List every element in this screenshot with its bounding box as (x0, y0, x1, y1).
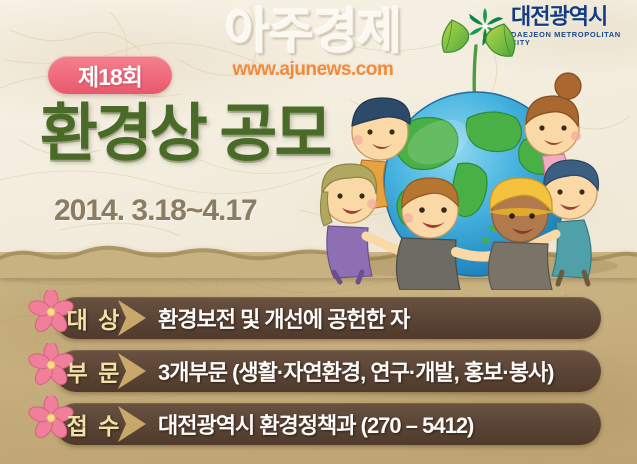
info-row-label: 부 문 (61, 350, 127, 392)
date-range: 2014. 3.18~4.17 (54, 194, 257, 228)
edition-badge-label: 제18회 (78, 58, 142, 92)
info-row-label: 대 상 (61, 297, 127, 339)
info-row-value: 환경보전 및 개선에 공헌한 자 (158, 297, 597, 339)
info-row-label: 접 수 (61, 403, 127, 445)
info-row-value: 3개부문 (생활·자연환경, 연구·개발, 홍보·봉사) (158, 350, 597, 392)
poster-root: 아주경제 www.ajunews.com (0, 0, 637, 464)
page-title: 환경상 공모 (40, 102, 370, 166)
info-row-contact: 접 수 대전광역시 환경정책과 (270 – 5412) (0, 398, 637, 451)
info-rows: 대 상 환경보전 및 개선에 공헌한 자 부 문 3개부문 (생활·자연환경, … (0, 292, 637, 451)
info-row-category: 부 문 3개부문 (생활·자연환경, 연구·개발, 홍보·봉사) (0, 345, 637, 398)
info-row-value: 대전광역시 환경정책과 (270 – 5412) (158, 403, 597, 445)
edition-badge: 제18회 (48, 56, 172, 94)
info-row-target: 대 상 환경보전 및 개선에 공헌한 자 (0, 292, 637, 345)
